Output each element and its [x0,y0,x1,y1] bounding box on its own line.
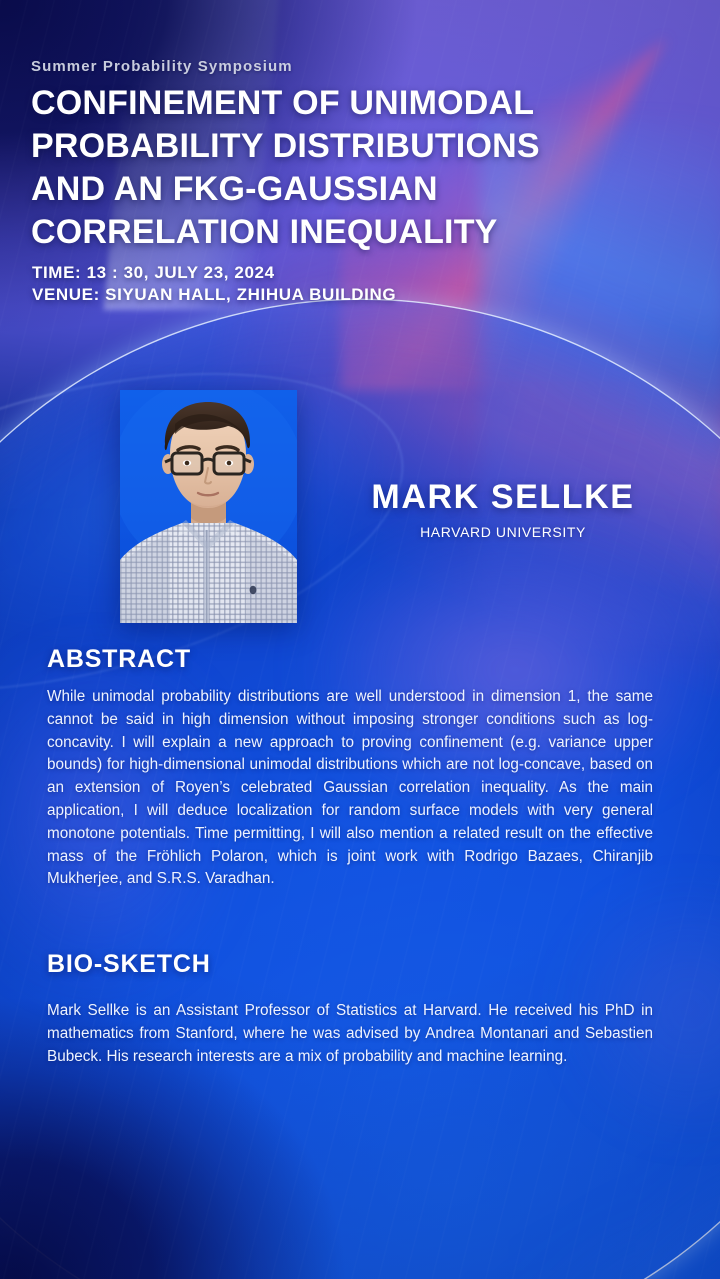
bio-sketch-body: Mark Sellke is an Assistant Professor of… [47,1000,653,1068]
event-details: TIME: 13 : 30, JULY 23, 2024 VENUE: SIYU… [32,262,396,306]
title-line-4: CORRELATION INEQUALITY [31,211,671,254]
title-line-1: CONFINEMENT OF UNIMODAL [31,82,671,125]
speaker-affiliation: HARVARD UNIVERSITY [323,524,683,540]
event-series-kicker: Summer Probability Symposium [31,58,293,75]
abstract-body: While unimodal probability distributions… [47,686,653,891]
speaker-portrait-icon [120,390,297,623]
title-line-3: AND AN FKG-GAUSSIAN [31,168,671,211]
speaker-photo [120,390,297,623]
title-line-2: PROBABILITY DISTRIBUTIONS [31,125,671,168]
event-time: TIME: 13 : 30, JULY 23, 2024 [32,262,396,284]
poster-title: CONFINEMENT OF UNIMODAL PROBABILITY DIST… [31,82,671,254]
seminar-poster: Summer Probability Symposium CONFINEMENT… [0,0,720,1279]
abstract-heading: ABSTRACT [47,645,191,674]
event-venue: VENUE: SIYUAN HALL, ZHIHUA BUILDING [32,284,396,306]
bio-sketch-heading: BIO-SKETCH [47,950,211,979]
speaker-name: MARK SELLKE [323,478,683,517]
